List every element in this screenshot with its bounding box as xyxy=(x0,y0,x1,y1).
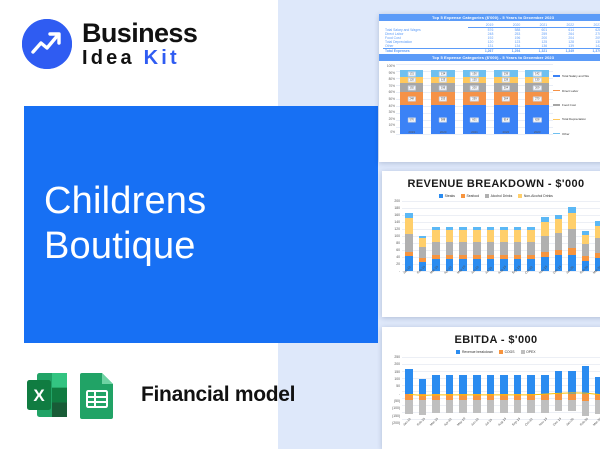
chart100-data-label: 209 xyxy=(533,85,541,90)
y-tick: 120 xyxy=(394,227,400,231)
bar-slot xyxy=(511,201,525,271)
ebitda-chart-title: EBITDA - $'000 xyxy=(382,334,600,346)
legend-swatch xyxy=(553,104,560,105)
bar-slot xyxy=(429,201,443,271)
bar-segment xyxy=(541,400,549,413)
y-tick: (150) xyxy=(392,414,400,418)
bar-segment xyxy=(405,252,413,256)
ebitda-chart-body: 25020015010050-(50)(100)(150)(200) Jan-1… xyxy=(382,354,600,441)
bar-segment xyxy=(432,255,440,259)
ebitda-plot: Jan-19Feb-19Mar-19Apr-19May-19Jun-19Jul-… xyxy=(402,357,600,441)
chart100-data-label: 253 xyxy=(439,96,447,101)
bar-segment xyxy=(459,227,467,231)
chart100-x-tick: 2021 xyxy=(463,130,487,134)
chart100-data-label: 248 xyxy=(408,96,416,101)
chart100-data-label: 136 xyxy=(470,71,478,76)
chart100-segment: 270 xyxy=(525,92,549,105)
chart100-data-label: 139 xyxy=(502,71,510,76)
bar-segment xyxy=(541,222,549,235)
bar-segment xyxy=(432,227,440,231)
svg-text:X: X xyxy=(33,386,45,405)
chart100-segment: 136 xyxy=(463,70,487,77)
bar-segment xyxy=(500,242,508,256)
legend-swatch xyxy=(553,133,560,134)
chart100-data-label: 628 xyxy=(533,117,541,122)
chart100-y-tick: 10% xyxy=(381,123,395,127)
bar-slot xyxy=(402,357,416,423)
bar-slot xyxy=(579,357,593,423)
legend-swatch xyxy=(553,119,560,120)
ebitda-x-axis: Jan-19Feb-19Mar-19Apr-19May-19Jun-19Jul-… xyxy=(402,423,600,441)
chart100-legend-item: Total Salary and Wa xyxy=(553,74,600,78)
chart100-segment: 209 xyxy=(525,83,549,93)
bar-segment xyxy=(473,400,481,413)
ebitda-y-axis: 25020015010050-(50)(100)(150)(200) xyxy=(384,357,402,441)
bar-segment xyxy=(473,230,481,241)
brand-line-business: Business xyxy=(82,20,197,46)
y-tick: - xyxy=(399,269,400,273)
bar-segment xyxy=(459,375,467,394)
chart100-segment: 259 xyxy=(463,92,487,105)
bar-segment xyxy=(419,379,427,394)
bar-slot xyxy=(497,357,511,423)
bar-segment xyxy=(473,255,481,259)
legend-label: Direct Labor xyxy=(562,89,578,93)
bar-segment xyxy=(500,230,508,241)
chart100-y-tick: 60% xyxy=(381,90,395,94)
bar-segment xyxy=(527,230,535,241)
bar-segment xyxy=(446,242,454,256)
chart100-x-tick: 2020 xyxy=(431,130,455,134)
y-tick: 80 xyxy=(396,241,400,245)
y-tick: 200 xyxy=(394,362,400,366)
bar-segment xyxy=(487,242,495,256)
bar-segment xyxy=(432,230,440,241)
format-badges: X Financial model xyxy=(25,370,295,420)
bar-slot xyxy=(443,201,457,271)
card-revenue-breakdown: REVENUE BREAKDOWN - $'000 SteaksSeafoodA… xyxy=(382,171,600,317)
bar-segment xyxy=(487,230,495,241)
chart100-bar: 1421302092706282023 xyxy=(525,63,549,134)
legend-label: Food Cost xyxy=(562,103,576,107)
bar-segment xyxy=(487,375,495,394)
chart100-y-tick: 100% xyxy=(381,64,395,68)
bar-slot xyxy=(511,357,525,423)
bar-segment xyxy=(419,238,427,247)
bar-slot xyxy=(592,201,600,271)
bar-segment xyxy=(405,400,413,415)
bar-segment xyxy=(555,233,563,250)
chart100-y-tick: 30% xyxy=(381,110,395,114)
card-expense-categories: Top 5 Expense Categories ($'000) - 5 Yea… xyxy=(379,14,600,162)
bar-segment xyxy=(432,375,440,394)
bar-segment xyxy=(555,400,563,410)
legend-swatch xyxy=(553,90,560,91)
bar-segment xyxy=(555,371,563,393)
revenue-x-axis: Jan-19Feb-19Mar-19Apr-19May-19Jun-19Jul-… xyxy=(402,271,600,293)
bar-segment xyxy=(473,242,481,256)
bar-segment xyxy=(527,400,535,413)
bar-segment xyxy=(582,366,590,394)
bar-segment xyxy=(527,255,535,259)
poster-canvas: Business Idea Kit Childrens Boutique X xyxy=(0,0,600,449)
chart100-bar: 1391282042646142022 xyxy=(494,63,518,134)
bar-segment xyxy=(459,255,467,259)
legend-label: Other xyxy=(562,132,570,136)
bar-slot xyxy=(579,201,593,271)
brand-wordmark: Business Idea Kit xyxy=(82,20,197,69)
bar-slot xyxy=(456,357,470,423)
chart100-data-label: 142 xyxy=(533,71,541,76)
page-title-line-2: Boutique xyxy=(44,224,364,269)
bar-segment xyxy=(514,400,522,413)
bar-segment xyxy=(459,400,467,413)
y-tick: 250 xyxy=(394,355,400,359)
brand-line-idea-kit: Idea Kit xyxy=(82,47,197,69)
chart100-data-label: 601 xyxy=(470,117,478,122)
bar-segment xyxy=(500,255,508,259)
bar-slot xyxy=(592,357,600,423)
page-title: Childrens Boutique xyxy=(44,179,364,269)
table-total-row: Total Expenses1,2671,2941,3211,3491,379 xyxy=(383,49,600,54)
bar-segment xyxy=(595,377,600,394)
chart100-data-label: 576 xyxy=(408,117,416,122)
bar-slot xyxy=(484,357,498,423)
chart100-segment: 131 xyxy=(400,70,424,77)
chart100-data-label: 259 xyxy=(470,96,478,101)
chart100-segment: 264 xyxy=(494,92,518,105)
bar-segment xyxy=(541,217,549,222)
bar-slot xyxy=(470,357,484,423)
bar-segment xyxy=(582,256,590,260)
chart100-y-tick: 90% xyxy=(381,71,395,75)
bar-slot xyxy=(429,357,443,423)
bar-slot xyxy=(484,201,498,271)
bar-segment xyxy=(568,394,576,401)
bar-slot xyxy=(443,357,457,423)
bar-segment xyxy=(500,227,508,231)
chart100-data-label: 134 xyxy=(439,71,447,76)
y-tick: 150 xyxy=(394,370,400,374)
brand-word-kit: Kit xyxy=(144,47,180,69)
bar-segment xyxy=(432,242,440,256)
y-tick: (200) xyxy=(392,421,400,425)
bar-slot xyxy=(538,357,552,423)
chart100-segment: 134 xyxy=(431,70,455,77)
bar-segment xyxy=(595,238,600,253)
bar-segment xyxy=(514,375,522,394)
bar-segment xyxy=(473,375,481,394)
legend-swatch xyxy=(553,75,560,76)
bar-segment xyxy=(419,400,427,415)
bar-segment xyxy=(568,371,576,394)
revenue-bars xyxy=(402,201,600,271)
bar-segment xyxy=(555,394,563,401)
revenue-plot: Jan-19Feb-19Mar-19Apr-19May-19Jun-19Jul-… xyxy=(402,201,600,293)
bar-slot xyxy=(538,201,552,271)
bar-segment xyxy=(432,400,440,413)
chart100-segment: 196 xyxy=(431,83,455,93)
chart100-y-tick: 80% xyxy=(381,77,395,81)
bar-segment xyxy=(473,227,481,231)
bar-segment xyxy=(555,250,563,256)
bar-segment xyxy=(446,230,454,241)
y-tick: 160 xyxy=(394,213,400,217)
bar-segment xyxy=(595,253,600,258)
chart100-segment: 253 xyxy=(431,92,455,105)
chart100-y-tick: 20% xyxy=(381,117,395,121)
chart100-data-label: 125 xyxy=(470,77,478,82)
brand-logo: Business Idea Kit xyxy=(22,19,197,69)
chart100-data-label: 196 xyxy=(439,85,447,90)
bar-segment xyxy=(405,234,413,252)
bar-segment xyxy=(541,252,549,257)
y-tick: 100 xyxy=(394,234,400,238)
bar-slot xyxy=(470,201,484,271)
chart100-data-label: 614 xyxy=(502,117,510,122)
chart100-segment: 192 xyxy=(400,83,424,93)
card-ebitda: EBITDA - $'000 Revenue breakdownCOGSOPEX… xyxy=(382,327,600,449)
y-tick: (50) xyxy=(394,399,400,403)
financial-model-label: Financial model xyxy=(141,383,295,407)
bar-segment xyxy=(446,400,454,413)
y-tick: - xyxy=(399,392,400,396)
chart100-bar: 1361252002596012021 xyxy=(463,63,487,134)
legend-label: Total Depreciation xyxy=(562,117,586,121)
bar-segment xyxy=(514,242,522,256)
bar-segment xyxy=(568,248,576,255)
bar-slot xyxy=(524,357,538,423)
chart100-legend-item: Food Cost xyxy=(553,103,600,107)
chart100-data-label: 128 xyxy=(502,77,510,82)
bar-slot xyxy=(456,201,470,271)
bar-segment xyxy=(446,375,454,394)
bar-segment xyxy=(419,236,427,238)
bar-segment xyxy=(487,400,495,413)
bar-slot xyxy=(524,201,538,271)
bar-segment xyxy=(568,400,576,410)
bar-segment xyxy=(582,235,590,245)
microsoft-excel-icon: X xyxy=(25,370,69,420)
chart100-data-label: 200 xyxy=(470,85,478,90)
chart100-y-tick: 70% xyxy=(381,84,395,88)
bar-segment xyxy=(527,242,535,256)
bar-segment xyxy=(582,394,590,402)
chart100-segment: 142 xyxy=(525,70,549,77)
revenue-chart-title: REVENUE BREAKDOWN - $'000 xyxy=(382,178,600,190)
chart100-x-tick: 2019 xyxy=(400,130,424,134)
chart100-legend-item: Total Depreciation xyxy=(553,117,600,121)
bar-segment xyxy=(582,244,590,256)
chart100-y-axis: 100%90%80%70%60%50%40%30%20%10%0% xyxy=(381,63,396,141)
table-body: Total Salary and Wages576588601614628Dir… xyxy=(383,28,600,54)
chart100-data-label: 588 xyxy=(439,117,447,122)
y-tick: 100 xyxy=(394,377,400,381)
bar-slot xyxy=(416,357,430,423)
y-tick: 60 xyxy=(396,248,400,252)
chart100-data-label: 204 xyxy=(502,85,510,90)
sheet-band-title-2: Top 5 Expense Categories ($'000) - 5 Yea… xyxy=(379,54,600,61)
bar-segment xyxy=(527,375,535,394)
bar-segment xyxy=(459,230,467,241)
ebitda-bars xyxy=(402,357,600,423)
revenue-chart-body: -20406080100120140160180200 Jan-19Feb-19… xyxy=(382,198,600,293)
y-tick: (100) xyxy=(392,406,400,410)
chart100-legend-item: Direct Labor xyxy=(553,89,600,93)
chart100-x-tick: 2022 xyxy=(494,130,518,134)
bar-segment xyxy=(419,247,427,258)
bar-segment xyxy=(487,255,495,259)
bar-segment xyxy=(405,369,413,393)
bar-segment xyxy=(555,219,563,233)
y-tick: 20 xyxy=(396,262,400,266)
bar-segment xyxy=(568,207,576,213)
bar-segment xyxy=(568,213,576,229)
bar-segment xyxy=(595,221,600,226)
expense-table: 20192020202120222023 Total Salary and Wa… xyxy=(383,23,600,53)
y-tick: 50 xyxy=(396,384,400,388)
chart100-data-label: 130 xyxy=(533,77,541,82)
chart-expense-100-stacked: 100%90%80%70%60%50%40%30%20%10%0% 131120… xyxy=(379,61,600,141)
chart100-y-tick: 40% xyxy=(381,104,395,108)
trending-up-circle-icon xyxy=(22,19,72,69)
bar-segment xyxy=(595,400,600,414)
bar-segment xyxy=(446,255,454,259)
y-tick: 200 xyxy=(394,199,400,203)
bar-slot xyxy=(497,201,511,271)
brand-word-idea: Idea xyxy=(82,47,135,69)
chart100-data-label: 131 xyxy=(408,71,416,76)
google-sheets-icon xyxy=(75,370,119,420)
y-tick: 140 xyxy=(394,220,400,224)
bar-segment xyxy=(446,227,454,231)
chart100-y-tick: 0% xyxy=(381,130,395,134)
page-title-line-1: Childrens xyxy=(44,179,364,224)
chart100-segment: 248 xyxy=(400,92,424,105)
bar-segment xyxy=(487,227,495,231)
y-tick: 40 xyxy=(396,255,400,259)
sheet-table-wrap: 20192020202120222023 Total Salary and Wa… xyxy=(379,21,600,54)
chart100-segment: 139 xyxy=(494,70,518,77)
bar-segment xyxy=(582,231,590,235)
bar-slot xyxy=(416,201,430,271)
chart100-data-label: 120 xyxy=(408,77,416,82)
chart100-bar: 1311201922485762019 xyxy=(400,63,424,134)
revenue-y-axis: -20406080100120140160180200 xyxy=(384,201,402,293)
chart100-data-label: 270 xyxy=(533,96,541,101)
bar-segment xyxy=(568,229,576,248)
bar-segment xyxy=(500,375,508,394)
bar-segment xyxy=(541,375,549,394)
bar-segment xyxy=(514,227,522,231)
chart100-segment: 200 xyxy=(463,83,487,93)
bar-slot xyxy=(552,357,566,423)
bar-segment xyxy=(514,230,522,241)
bar-segment xyxy=(555,215,563,219)
bar-segment xyxy=(405,218,413,234)
chart100-bar: 1341231962535882020 xyxy=(431,63,455,134)
bar-segment xyxy=(514,255,522,259)
bar-segment xyxy=(527,227,535,231)
chart100-data-label: 264 xyxy=(502,96,510,101)
bar-slot xyxy=(565,201,579,271)
bar-slot xyxy=(402,201,416,271)
bar-segment xyxy=(459,242,467,256)
bar-segment xyxy=(405,213,413,218)
legend-label: Total Salary and Wa xyxy=(562,74,589,78)
chart100-plot: 1311201922485762019134123196253588202013… xyxy=(396,63,553,141)
chart100-legend-item: Other xyxy=(553,132,600,136)
chart100-segment: 204 xyxy=(494,83,518,93)
bar-slot xyxy=(565,357,579,423)
chart100-data-label: 123 xyxy=(439,77,447,82)
bar-segment xyxy=(541,236,549,252)
bar-slot xyxy=(552,201,566,271)
chart100-data-label: 192 xyxy=(408,85,416,90)
gridline xyxy=(396,134,553,135)
chart100-y-tick: 50% xyxy=(381,97,395,101)
sheet-band-title-1: Top 5 Expense Categories ($'000) - 5 Yea… xyxy=(379,14,600,21)
chart100-x-tick: 2023 xyxy=(525,130,549,134)
chart100-legend: Total Salary and WaDirect LaborFood Cost… xyxy=(553,63,600,141)
y-tick: 180 xyxy=(394,206,400,210)
bar-segment xyxy=(500,400,508,413)
bar-segment xyxy=(595,226,600,238)
